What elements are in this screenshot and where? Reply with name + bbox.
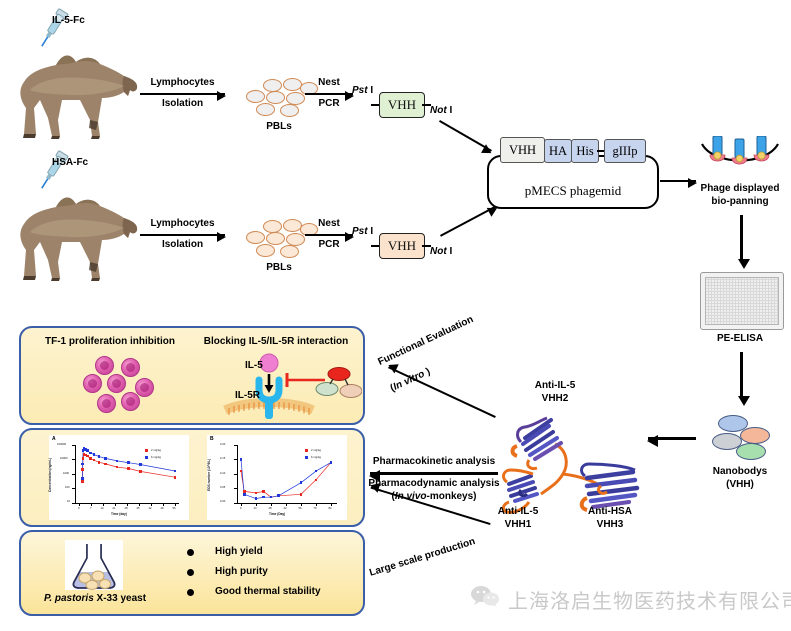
chart-point [174,476,177,479]
chart-point [93,453,96,456]
phagemid-segment-his: His [571,139,599,163]
not-site-label-1: Not I [430,105,452,118]
pbls-label-2: PBLs [244,262,314,275]
structure-label-vhh2-line2: VHH2 [515,393,595,406]
chart-point [277,494,280,497]
nest-label-1: Nest [318,77,340,90]
syringe-icon-2 [32,148,72,194]
panel-yeast-production: P. pastoris X-33 yeast High yield High p… [19,530,365,616]
chart-point [98,461,101,464]
chart-b-legend-marker-1 [305,449,308,452]
chart-a-legend-marker-1 [145,449,148,452]
chart-point [127,461,130,464]
phagemid-segment-giiip: gIIIp [604,139,646,163]
phagemid-name: pMECS phagemid [489,183,657,199]
pst-site-label-2: Pst I [352,226,373,239]
chart-b-legend-marker-2 [305,456,308,459]
chart-point [81,480,84,483]
camel-illustration-2 [6,176,146,284]
not-site-label-2: Not I [430,246,452,259]
chart-point [104,457,107,460]
pbls-label-1: PBLs [244,121,314,134]
nanobodies-label-line2: (VHH) [690,479,790,492]
yeast-bullet-2: High purity [215,566,268,579]
chart-b-legend-label-1: 2 mg/kg [311,448,321,452]
tf1-panel-title: TF-1 proliferation inhibition [25,336,195,349]
structure-label-vhh1-line1: Anti-IL-5 [478,506,558,519]
chart-point [81,463,84,466]
chart-point [315,470,318,473]
chart-a-legend-label-2: 6 mg/kg [151,455,161,459]
elisa-plate [700,272,784,330]
phage-display-illustration [700,136,780,170]
panel-pkpd-charts: A 100000 10000 1000 100 10 Concentration… [19,428,365,527]
chart-point [300,481,303,484]
yeast-bullet-3: Good thermal stability [215,586,321,599]
il5-receptor-schematic [217,352,362,422]
panel-functional-evaluation: TF-1 proliferation inhibition Blocking I… [19,326,365,425]
pst-site-label-1: Pst I [352,85,373,98]
nanobodies-label-line1: Nanobodys [690,466,790,479]
pharmacodynamic-sublabel: (In vivo-monkeys) [360,491,508,504]
il5-ligand-label: IL-5 [245,360,263,373]
vhh-gene-construct-2: Pst I VHH Not I [352,219,462,259]
phagemid-segment-ha-label: HA [549,144,567,159]
chart-point [255,497,258,500]
chart-point [93,459,96,462]
arrow-phagemid-to-biopanning [660,180,696,182]
chart-a-legend-marker-2 [145,456,148,459]
pharmacokinetic-arrow [370,472,498,475]
chart-point [330,461,333,464]
large-scale-production-label: Large scale production [368,536,477,580]
chart-point [139,463,142,466]
chart-point [86,455,89,458]
chart-point [86,449,89,452]
chart-point [255,492,258,495]
chart-point [81,477,84,480]
chart-point [98,455,101,458]
chart-point [116,460,119,463]
vhh-box-1: VHH [379,92,425,118]
pmecs-phagemid-box: pMECS phagemid [487,155,659,209]
chart-panel-b: B 0.20 0.15 0.10 0.05 0.00 EOS number (1… [207,435,347,520]
chart-point [262,496,265,499]
syringe-icon-1 [32,6,72,52]
chart-panel-a: A 100000 10000 1000 100 10 Concentration… [49,435,189,520]
phagemid-segment-giiip-label: gIIIp [613,144,638,159]
pbl-cluster-1 [244,78,314,116]
arrow-elisa-to-nanobodies [740,352,743,397]
isolation-label-1: Isolation [162,98,203,111]
structure-label-vhh2-line1: Anti-IL-5 [515,380,595,393]
yeast-bullet-1: High yield [215,546,263,559]
structure-label-vhh3-line1: Anti-HSA [570,506,650,519]
chart-point [240,470,243,473]
yeast-strain-label: P. pastoris X-33 yeast [37,593,153,606]
chart-point [243,493,246,496]
camel-illustration-1 [6,34,146,142]
nanobody-cluster [710,415,772,459]
bullet-marker-3 [187,589,194,596]
chart-point [127,467,130,470]
chart-a-legend-label-1: 2 mg/kg [151,448,161,452]
biopanning-label-line2: bio-panning [690,196,790,209]
elisa-label: PE-ELISA [690,333,790,346]
pharmacokinetic-label: Pharmacokinetic analysis [360,456,508,469]
structure-label-vhh1-line2: VHH1 [478,519,558,532]
pbl-cluster-2 [244,219,314,257]
antigen-label-1: IL-5-Fc [52,15,85,28]
vhh-box-label-2: VHH [388,238,416,254]
nanobody-ellipse-orange [740,427,770,444]
isolation-label-2: Isolation [162,239,203,252]
chart-point [270,496,273,499]
chart-point [174,470,177,473]
vhh-box-label-1: VHH [388,97,416,113]
chart-point [116,466,119,469]
chart-point [262,490,265,493]
structure-label-vhh3-line2: VHH3 [570,519,650,532]
lymphocytes-label-2: Lymphocytes [150,218,214,231]
company-watermark-text: 上海洛启生物医药技术有限公司 [508,585,791,614]
lymphocytes-label-1: Lymphocytes [150,77,214,90]
nest-label-2: Nest [318,218,340,231]
yeast-flask-illustration [65,540,123,590]
pharmacodynamic-label: Pharmacodynamic analysis [360,478,508,491]
arrow-biopanning-to-elisa [740,215,743,260]
biopanning-label-line1: Phage displayed [690,183,790,196]
antigen-label-2: HSA-Fc [52,157,88,170]
wechat-logo-icon [470,584,500,613]
blocking-panel-title: Blocking IL-5/IL-5R interaction [191,336,361,349]
bullet-marker-2 [187,569,194,576]
phagemid-segment-vhh-label: VHH [509,143,536,158]
phagemid-segment-ha: HA [544,139,572,163]
pcr-label-1: PCR [318,98,339,111]
chart-point [315,479,318,482]
tf1-cell-cluster [77,356,182,416]
functional-evaluation-label: Functional Evaluation (In vitro ) [376,314,487,395]
bullet-marker-1 [187,549,194,556]
vhh-gene-construct-1: Pst I VHH Not I [352,78,462,118]
chart-point [89,452,92,455]
chart-point [104,463,107,466]
chart-point [89,457,92,460]
chart-point [82,457,85,460]
chart-point [240,458,243,461]
phagemid-segment-vhh: VHH [500,137,545,163]
vhh-box-2: VHH [379,233,425,259]
nanobody-ellipse-green [736,443,766,460]
phagemid-segment-his-label: His [576,144,593,159]
arrow-nanobodies-to-structures [648,437,696,440]
elisa-plate-wells [705,277,779,325]
chart-point [300,493,303,496]
chart-b-legend-label-2: 6 mg/kg [311,455,321,459]
chart-point [139,470,142,473]
il5r-receptor-label: IL-5R [235,390,260,403]
chart-point [81,468,84,471]
pcr-label-2: PCR [318,239,339,252]
